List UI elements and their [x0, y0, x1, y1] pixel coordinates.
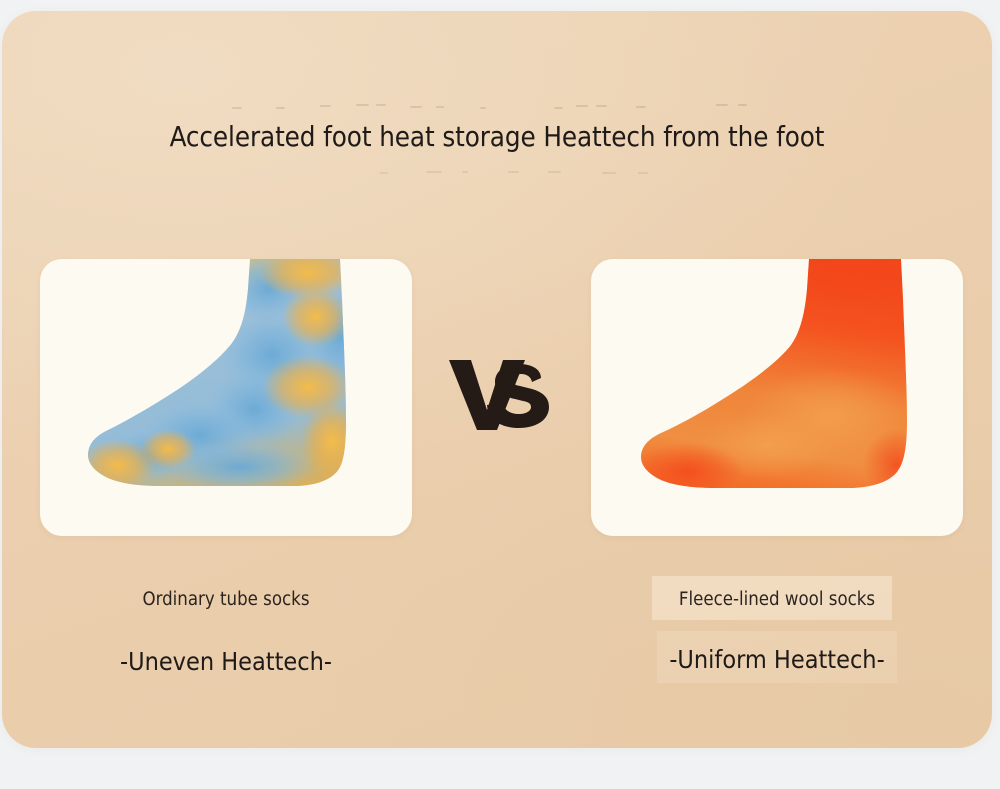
- content-panel: Accelerated foot heat storage Heattech f…: [2, 11, 992, 748]
- comparison-card-left: [40, 259, 412, 536]
- caption-left-title: -Uneven Heattech-: [40, 647, 412, 676]
- caption-right-subtitle: Fleece-lined wool socks: [591, 589, 963, 610]
- text-residue-top: [2, 99, 992, 115]
- page-root: Accelerated foot heat storage Heattech f…: [0, 0, 1000, 789]
- caption-right-title: -Uniform Heattech-: [591, 645, 963, 674]
- thermal-foot-uneven-image: [40, 259, 412, 536]
- comparison-card-right: [591, 259, 963, 536]
- vs-icon: [445, 352, 555, 434]
- caption-left-subtitle: Ordinary tube socks: [40, 589, 412, 610]
- page-title: Accelerated foot heat storage Heattech f…: [2, 121, 992, 153]
- text-residue-bottom: [2, 168, 992, 182]
- vs-badge: [445, 352, 555, 434]
- thermal-foot-uniform-image: [591, 259, 963, 536]
